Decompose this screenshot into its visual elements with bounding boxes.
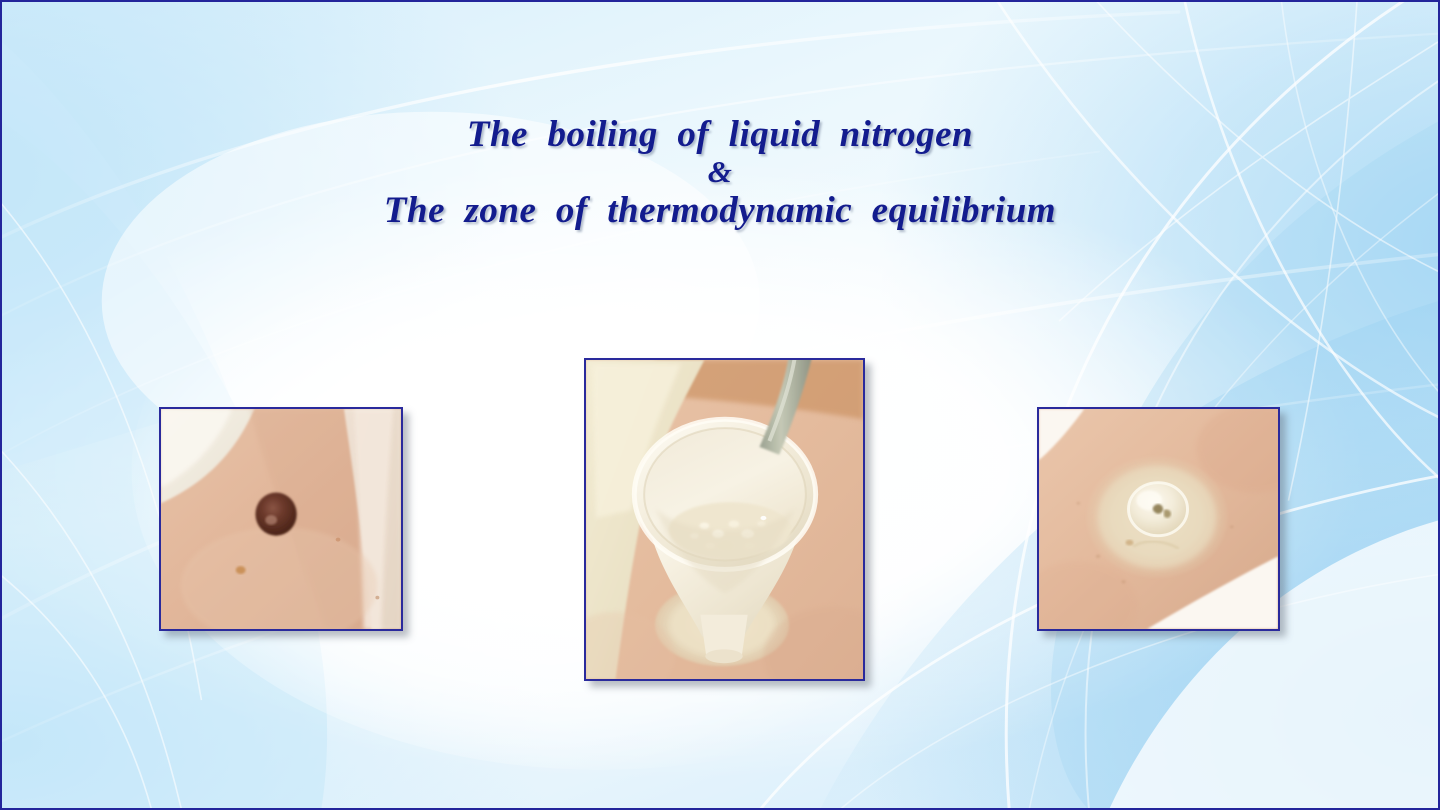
title-line-ampersand: &: [2, 155, 1438, 190]
title-line-2: The zone of thermodynamic equilibrium: [2, 190, 1438, 231]
figure-liquid-nitrogen-cone-applicator: [584, 358, 865, 681]
presentation-slide: The boiling of liquid nitrogen & The zon…: [0, 0, 1440, 810]
figure-frozen-ice-ball-after: [1037, 407, 1280, 631]
title-line-1: The boiling of liquid nitrogen: [2, 114, 1438, 155]
slide-title: The boiling of liquid nitrogen & The zon…: [2, 114, 1438, 232]
figure-pigmented-lesion-before: [159, 407, 403, 631]
